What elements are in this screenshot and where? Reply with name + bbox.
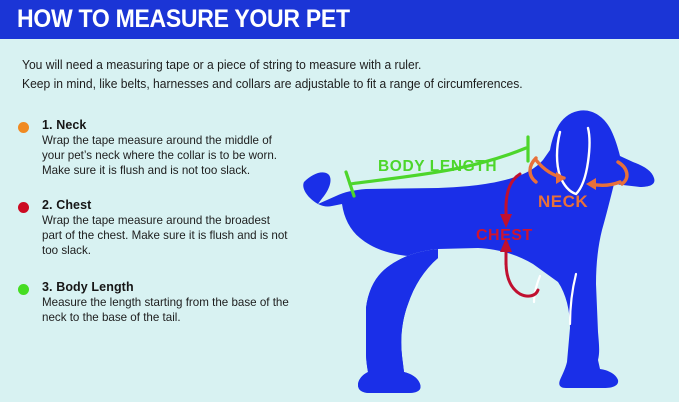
dog-diagram: BODY LENGTH NECK CHEST (288, 104, 679, 402)
step-item-neck: 1. Neck Wrap the tape measure around the… (18, 118, 293, 179)
step-item-body-length: 3. Body Length Measure the length starti… (18, 280, 293, 325)
step-title-chest: 2. Chest (42, 198, 293, 213)
intro-line-1: You will need a measuring tape or a piec… (22, 56, 636, 75)
step-body-chest: Wrap the tape measure around the broades… (42, 213, 293, 259)
header-bar: HOW TO MEASURE YOUR PET (0, 0, 679, 39)
page-title: HOW TO MEASURE YOUR PET (17, 5, 350, 34)
step-body-body-length: Measure the length starting from the bas… (42, 295, 293, 325)
bullet-dot-neck (18, 122, 29, 133)
bullet-dot-chest (18, 202, 29, 213)
bullet-dot-body-length (18, 284, 29, 295)
body-length-label: BODY LENGTH (378, 158, 497, 175)
intro-text: You will need a measuring tape or a piec… (22, 56, 636, 94)
infographic-page: HOW TO MEASURE YOUR PET You will need a … (0, 0, 679, 402)
step-body-neck: Wrap the tape measure around the middle … (42, 133, 293, 179)
step-title-body-length: 3. Body Length (42, 280, 293, 295)
intro-line-2: Keep in mind, like belts, harnesses and … (22, 75, 636, 94)
measurement-steps-list: 1. Neck Wrap the tape measure around the… (18, 118, 293, 345)
chest-label: CHEST (476, 227, 533, 244)
neck-label: NECK (538, 192, 588, 211)
step-title-neck: 1. Neck (42, 118, 293, 133)
step-item-chest: 2. Chest Wrap the tape measure around th… (18, 198, 293, 259)
dog-silhouette-icon (303, 110, 654, 393)
